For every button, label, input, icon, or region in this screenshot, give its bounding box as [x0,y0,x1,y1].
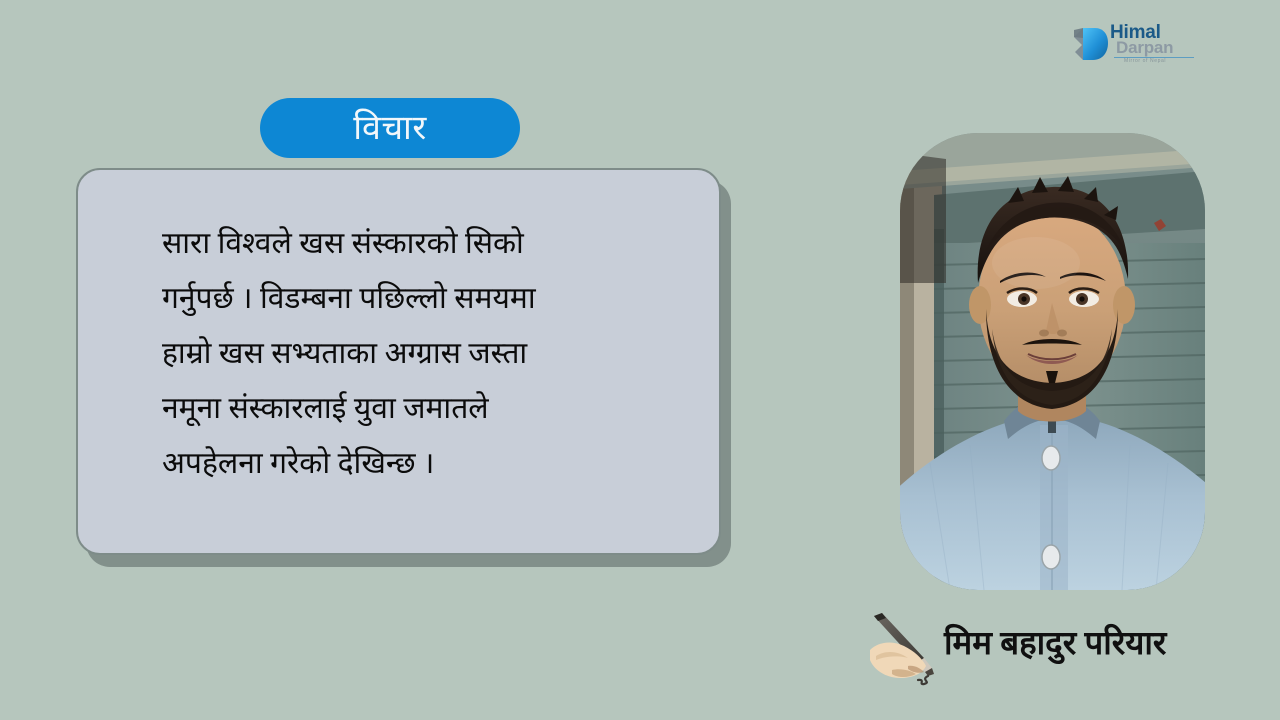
author-byline: मिम बहादुर परियार [862,608,1222,690]
category-badge-label: विचार [353,108,427,148]
himal-darpan-d-mark-icon [1070,24,1110,64]
quote-card: सारा विश्वले खस संस्कारको सिको गर्नुपर्छ… [76,168,721,555]
quote-text: सारा विश्वले खस संस्कारको सिको गर्नुपर्छ… [162,216,682,491]
writing-hand-pen-icon [862,612,944,686]
author-name: मिम बहादुर परियार [944,620,1166,668]
author-photo [900,133,1205,590]
brand-name-secondary: Darpan [1116,39,1173,57]
brand-wordmark: Himal Darpan Mirror of Nepal [1110,22,1202,68]
category-badge: विचार [260,98,520,158]
brand-logo: Himal Darpan Mirror of Nepal [1070,22,1200,70]
brand-tagline: Mirror of Nepal [1124,58,1166,64]
slide-canvas: Himal Darpan Mirror of Nepal विचार सारा … [0,0,1280,720]
